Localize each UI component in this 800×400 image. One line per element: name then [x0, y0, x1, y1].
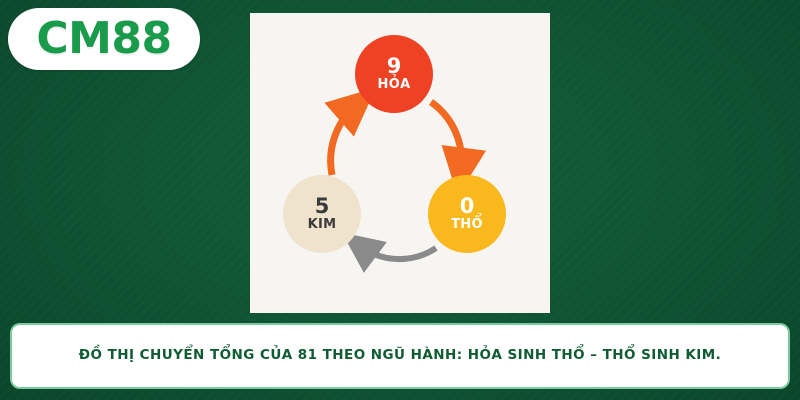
caption-bar: ĐỒ THỊ CHUYỂN TỔNG CỦA 81 THEO NGŨ HÀNH:… — [10, 323, 790, 389]
arrow-kim-to-hoa — [331, 105, 356, 175]
brand-logo-text: CM88 — [36, 17, 171, 61]
arrow-tho-to-kim — [360, 246, 436, 259]
caption-text: ĐỒ THỊ CHUYỂN TỔNG CỦA 81 THEO NGŨ HÀNH:… — [79, 347, 721, 365]
poster-canvas: CM88 9 — [0, 0, 800, 400]
node-tho-number: 0 — [460, 195, 475, 217]
node-hoa: 9 HỎA — [355, 35, 433, 113]
node-hoa-number: 9 — [387, 55, 402, 77]
node-kim: 5 KIM — [283, 175, 361, 253]
brand-logo: CM88 — [8, 8, 200, 70]
node-kim-number: 5 — [315, 195, 330, 217]
node-kim-label: KIM — [308, 217, 337, 233]
cycle-diagram: 9 HỎA 0 THỔ 5 KIM — [250, 13, 550, 313]
node-tho-label: THỔ — [451, 217, 483, 233]
arrow-hoa-to-tho — [431, 102, 462, 170]
node-hoa-label: HỎA — [378, 77, 411, 93]
diagram-card: 9 HỎA 0 THỔ 5 KIM — [250, 13, 550, 313]
node-tho: 0 THỔ — [428, 175, 506, 253]
